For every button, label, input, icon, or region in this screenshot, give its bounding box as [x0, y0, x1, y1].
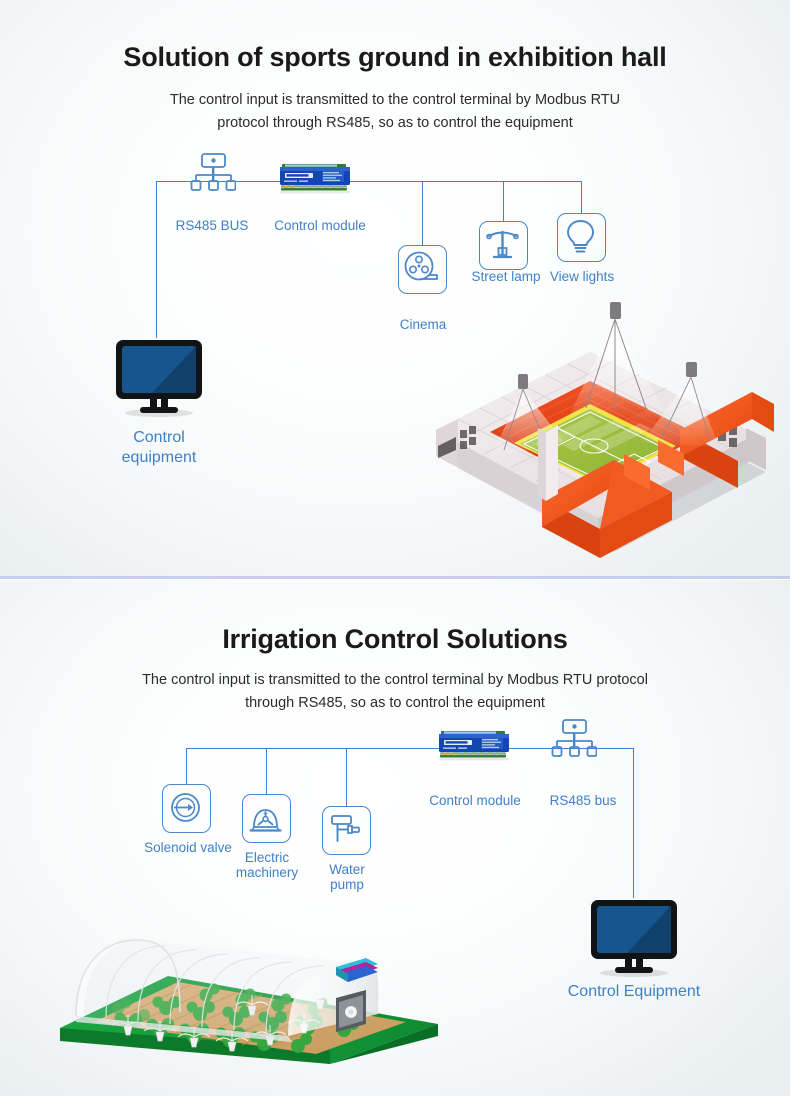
bus-drop-view-lights [581, 181, 582, 213]
subtitle-line-1: The control input is transmitted to the … [0, 89, 790, 112]
label-rs485-bus: RS485 BUS [152, 218, 272, 233]
bus-drop-water-pump [346, 748, 347, 806]
section-divider [0, 576, 790, 579]
section-irrigation-control: Irrigation Control Solutions The control… [0, 580, 790, 1096]
page-title-sports-ground: Solution of sports ground in exhibition … [0, 42, 790, 73]
bus-drop-street-lamp [503, 181, 504, 221]
network-bus-icon[interactable] [551, 718, 597, 767]
subtitle-line-1: The control input is transmitted to the … [0, 669, 790, 692]
subtitle-sports-ground: The control input is transmitted to the … [0, 89, 790, 135]
bus-drop-solenoid-valve [186, 748, 187, 784]
monitor-icon[interactable] [588, 898, 680, 983]
bus-drop-control-equipment [156, 181, 157, 338]
subtitle-line-2: through RS485, so as to control the equi… [0, 692, 790, 715]
label-rs485-bus: RS485 bus [533, 793, 633, 808]
network-bus-icon[interactable] [190, 152, 236, 201]
lightbulb-icon[interactable] [557, 213, 606, 262]
water-pump-icon[interactable] [322, 806, 371, 855]
electric-machinery-icon[interactable] [242, 794, 291, 843]
page-root: Solution of sports ground in exhibition … [0, 0, 790, 1096]
monitor-icon[interactable] [113, 338, 205, 423]
subtitle-line-2: protocol through RS485, so as to control… [0, 112, 790, 135]
label-control-equipment: Control Equipment [534, 983, 734, 1001]
bus-drop-cinema [422, 181, 423, 245]
page-title-irrigation: Irrigation Control Solutions [0, 624, 790, 655]
greenhouse-isometric-illustration [48, 878, 448, 1073]
section-sports-ground: Solution of sports ground in exhibition … [0, 0, 790, 578]
bus-drop-control-equipment [633, 748, 634, 898]
label-control-module: Control module [411, 793, 539, 808]
subtitle-irrigation: The control input is transmitted to the … [0, 669, 790, 715]
label-control-equipment: Control equipment [102, 428, 216, 468]
bus-drop-electric-machinery [266, 748, 267, 794]
control-module-board-icon[interactable] [437, 728, 511, 767]
label-electric-machinery: Electric machinery [222, 850, 312, 880]
control-module-board-icon[interactable] [278, 161, 352, 200]
street-lamp-icon[interactable] [479, 221, 528, 270]
label-control-module: Control module [256, 218, 384, 233]
stadium-isometric-illustration [418, 280, 788, 570]
solenoid-valve-icon[interactable] [162, 784, 211, 833]
